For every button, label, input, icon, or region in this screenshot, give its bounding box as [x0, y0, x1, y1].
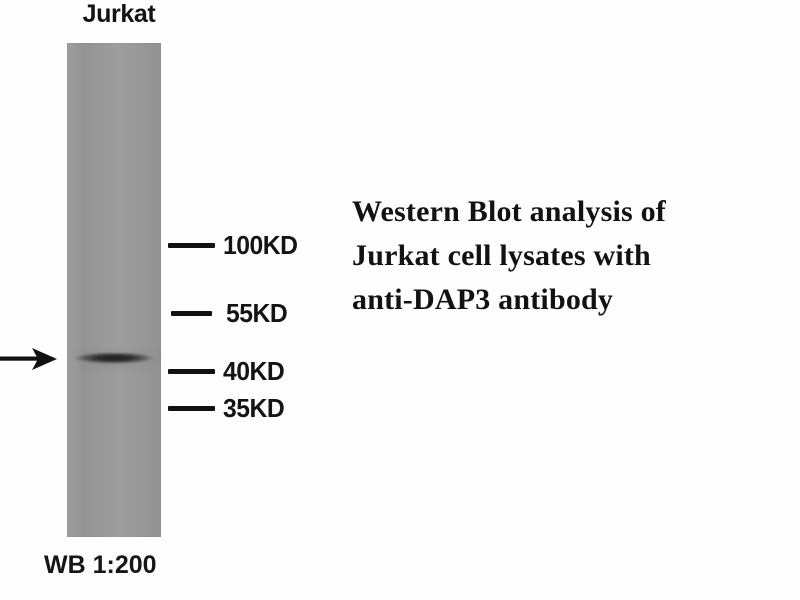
caption-line-1: Western Blot analysis of — [352, 190, 800, 234]
caption-line-3: anti-DAP3 antibody — [352, 278, 800, 322]
marker-100kd: 100KD — [168, 232, 301, 258]
marker-35kd: 35KD — [168, 395, 287, 421]
marker-40kd: 40KD — [168, 358, 287, 384]
marker-label: 55KD — [226, 300, 287, 326]
figure-caption: Western Blot analysis of Jurkat cell lys… — [352, 190, 800, 322]
marker-label: 100KD — [223, 232, 298, 258]
lane-title-jurkat: Jurkat — [64, 0, 174, 28]
marker-dash-icon — [171, 311, 212, 316]
marker-dash-icon — [168, 406, 215, 411]
western-blot-figure: Jurkat 100KD 55KD 40KD 35KD Western Blot… — [0, 0, 800, 600]
protein-band — [74, 353, 154, 363]
arrow-icon — [0, 344, 60, 374]
lane-texture — [67, 43, 161, 537]
marker-55kd: 55KD — [171, 300, 290, 326]
marker-dash-icon — [168, 243, 215, 248]
gel-lane — [67, 43, 161, 537]
caption-line-2: Jurkat cell lysates with — [352, 234, 800, 278]
marker-label: 35KD — [223, 395, 284, 421]
marker-dash-icon — [168, 369, 215, 374]
dilution-label: WB 1:200 — [44, 551, 157, 579]
marker-label: 40KD — [223, 358, 284, 384]
band-pointer — [0, 344, 60, 374]
